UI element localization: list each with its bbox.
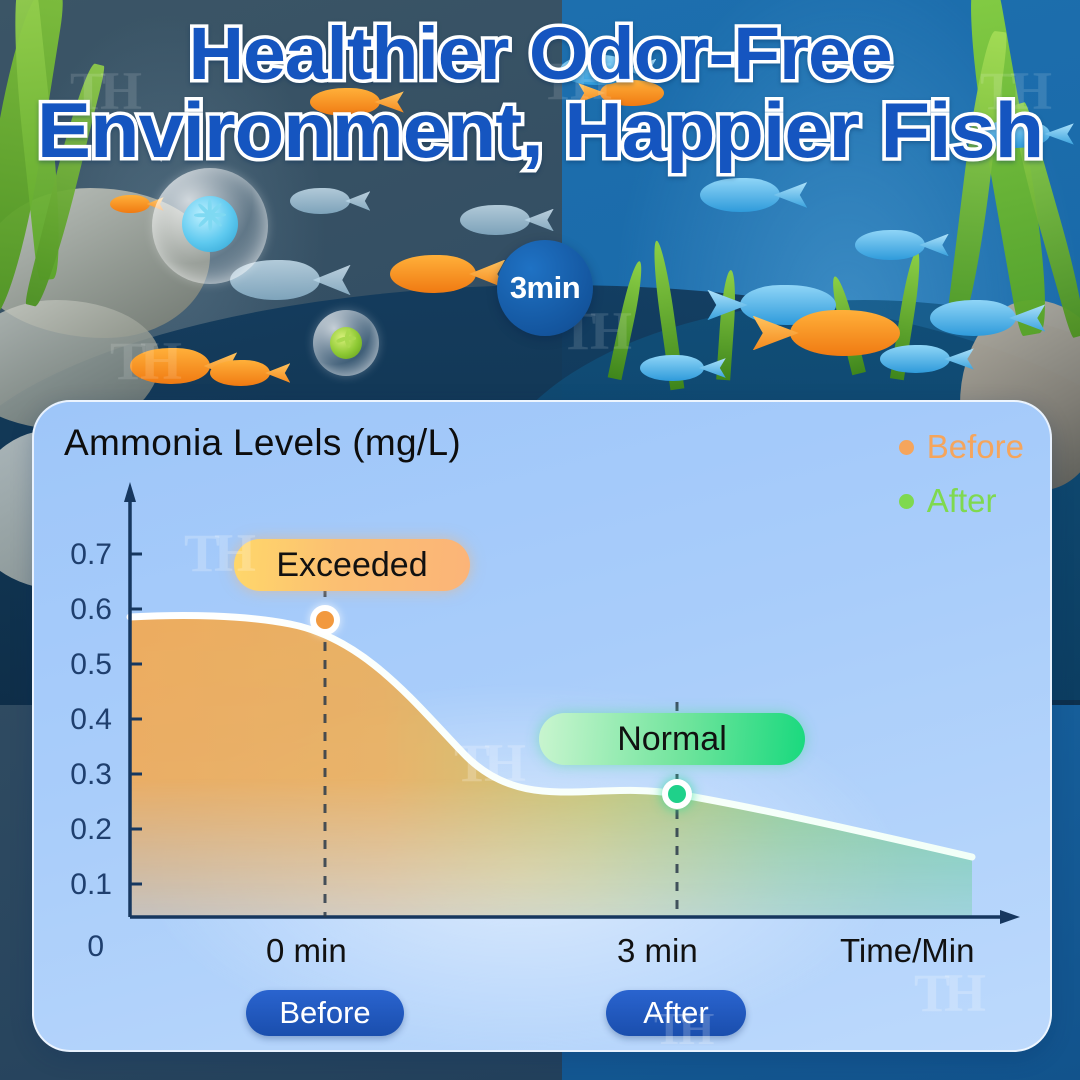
headline: Healthier Odor-Free Environment, Happier… [0,18,1080,168]
poster: TH TH TH TH TH Healthier Odor-Free Envir… [0,0,1080,1080]
chart-card: Ammonia Levels (mg/L) Before After [32,400,1052,1052]
watermark: TH [914,962,980,1024]
annotation-exceeded-label: Exceeded [276,546,427,585]
watermark: TH [184,522,250,584]
annotation-normal-label: Normal [617,720,727,759]
timer-badge: 3min [497,240,593,336]
pill-before: Before [246,990,404,1036]
pill-before-label: Before [279,995,370,1031]
y-tick-label: 0.5 [42,648,112,682]
y-tick-label: 0.2 [42,813,112,847]
watermark: TH [454,732,520,794]
x-tick-label-after: 3 min [617,932,698,970]
fish-icon [110,195,150,213]
annotation-normal: Normal [539,713,805,765]
virus-icon [182,196,238,252]
fish-icon [855,230,925,260]
fish-icon [790,310,900,356]
data-point-before[interactable] [310,605,340,635]
y-tick-label-zero: 0 [42,930,104,964]
y-tick-label: 0.6 [42,593,112,627]
annotation-exceeded: Exceeded [234,539,470,591]
fish-icon [640,355,704,381]
fish-icon [460,205,530,235]
headline-line-2: Environment, Happier Fish [0,93,1080,168]
fish-icon [700,178,780,212]
headline-line-1: Healthier Odor-Free [0,18,1080,89]
data-point-after[interactable] [662,779,692,809]
y-tick-label: 0.1 [42,868,112,902]
area-fill [130,615,972,917]
y-tick-label: 0.4 [42,703,112,737]
y-tick-label: 0.3 [42,758,112,792]
timer-badge-label: 3min [510,270,580,306]
fish-icon [290,188,350,214]
fish-icon [210,360,270,386]
fish-icon [930,300,1016,336]
x-tick-label-before: 0 min [266,932,347,970]
x-axis-arrow-icon [1000,910,1020,924]
fish-icon [390,255,476,293]
watermark: TH [654,1002,708,1052]
algae-icon [330,327,362,359]
y-tick-label: 0.7 [42,538,112,572]
watermark: TH [110,330,176,392]
y-axis-arrow-icon [124,482,136,502]
